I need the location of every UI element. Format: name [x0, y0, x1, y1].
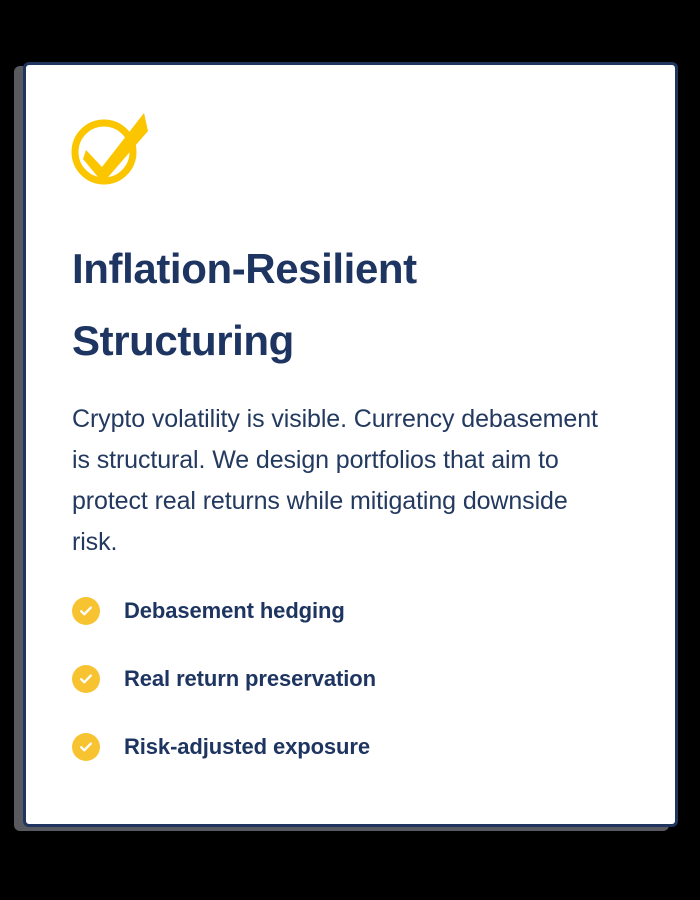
check-circle-icon — [72, 597, 100, 625]
page-root: Inflation-Resilient Structuring Crypto v… — [0, 0, 700, 900]
check-circle-icon — [72, 665, 100, 693]
feature-label: Debasement hedging — [124, 600, 345, 622]
circle-check-icon — [70, 109, 154, 189]
list-item: Debasement hedging — [72, 597, 629, 625]
feature-card: Inflation-Resilient Structuring Crypto v… — [23, 62, 678, 827]
card-content: Inflation-Resilient Structuring Crypto v… — [26, 65, 675, 824]
list-item: Real return preservation — [72, 665, 629, 693]
feature-list: Debasement hedging Real return preservat… — [72, 597, 629, 761]
list-item: Risk-adjusted exposure — [72, 733, 629, 761]
check-circle-icon — [72, 733, 100, 761]
feature-label: Real return preservation — [124, 668, 376, 690]
feature-label: Risk-adjusted exposure — [124, 736, 370, 758]
page-title: Inflation-Resilient Structuring — [72, 233, 502, 377]
card-description: Crypto volatility is visible. Currency d… — [72, 399, 612, 563]
